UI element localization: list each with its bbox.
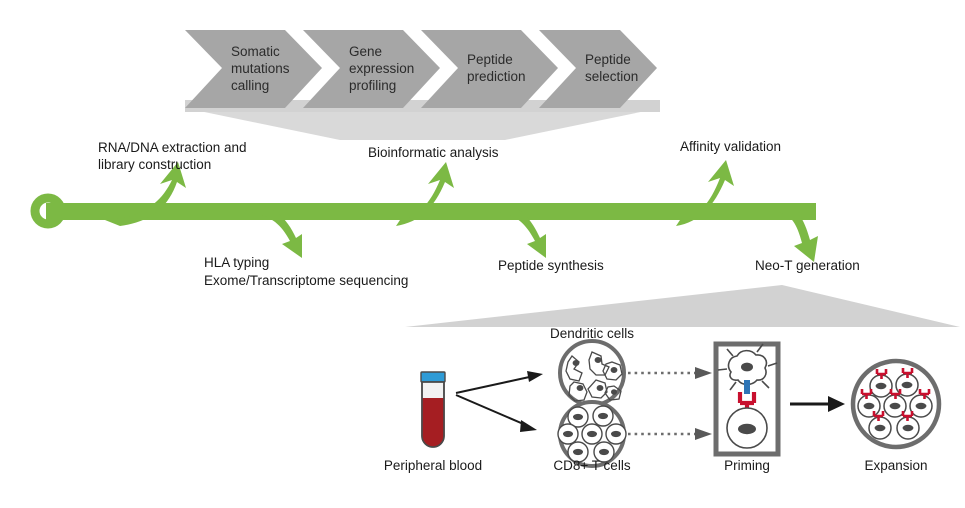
chevron-label-gene-1: expression — [349, 61, 414, 76]
label-neo-t-generation: Neo-T generation — [755, 258, 860, 273]
label-expansion: Expansion — [864, 458, 927, 473]
priming-tcell-nucleus — [738, 424, 756, 434]
expansion-dish — [853, 361, 939, 447]
priming-box — [716, 344, 778, 454]
cd8-t-cells-dish — [558, 402, 626, 466]
priming-dendritic-nucleus — [741, 363, 753, 372]
blood-tube-blood — [422, 398, 444, 447]
label-dendritic-cells: Dendritic cells — [550, 326, 634, 341]
chevron-label-gene-2: profiling — [349, 78, 396, 93]
peptide-mhc-icon — [744, 380, 750, 394]
chevron-label-selection-1: selection — [585, 69, 638, 84]
label-hla-typing-1: Exome/Transcriptome sequencing — [204, 273, 408, 288]
label-rna-dna-extraction-0: RNA/DNA extraction and — [98, 140, 247, 155]
label-hla-typing-0: HLA typing — [204, 255, 269, 270]
blood-tube-cap — [421, 372, 445, 382]
label-rna-dna-extraction-1: library construction — [98, 157, 211, 172]
label-peptide-synthesis: Peptide synthesis — [498, 258, 604, 273]
chevron-label-gene-0: Gene — [349, 44, 382, 59]
dendritic-cells-dish — [560, 341, 624, 405]
chevron-label-prediction-0: Peptide — [467, 52, 513, 67]
label-bioinformatic-analysis: Bioinformatic analysis — [368, 145, 499, 160]
label-affinity-validation: Affinity validation — [680, 139, 781, 154]
label-priming: Priming — [724, 458, 770, 473]
label-peripheral-blood: Peripheral blood — [384, 458, 482, 473]
chevron-label-somatic-2: calling — [231, 78, 269, 93]
peripheral-blood-tube — [421, 372, 445, 447]
chevron-label-prediction-1: prediction — [467, 69, 526, 84]
chevron-label-somatic-1: mutations — [231, 61, 290, 76]
chevron-label-somatic-0: Somatic — [231, 44, 280, 59]
chevron-label-selection-0: Peptide — [585, 52, 631, 67]
label-cd8-t-cells: CD8+ T cells — [553, 458, 630, 473]
workflow-diagram: Somatic mutations calling Gene expressio… — [0, 0, 965, 508]
